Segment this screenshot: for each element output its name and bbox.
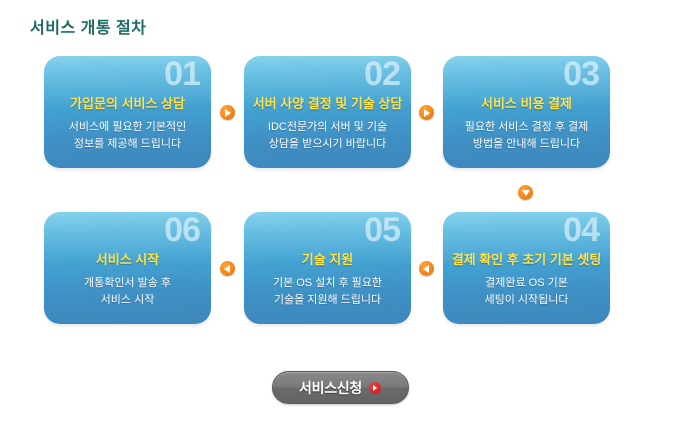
step-description-line: 세팅이 시작됩니다 <box>449 292 604 309</box>
step-description: 기본 OS 설치 후 필요한 기술을 지원해 드립니다 <box>250 275 405 309</box>
service-flow-page: 서비스 개통 절차 01 가입문의 서비스 상담 서비스에 필요한 기본적인 정… <box>0 0 680 445</box>
arrow-right-circle-icon <box>220 105 235 120</box>
arrow-left-circle-icon <box>220 261 235 276</box>
step-title: 서비스 시작 <box>44 249 211 268</box>
step-number: 05 <box>364 213 400 247</box>
step-title: 결제 확인 후 초기 기본 셋팅 <box>443 249 610 268</box>
step-description-line: 상담을 받으시기 바랍니다 <box>250 136 405 153</box>
step-number: 01 <box>164 57 200 91</box>
step-number: 04 <box>563 213 599 247</box>
arrow-right-circle-icon <box>369 382 381 394</box>
step-description-line: 방법을 안내해 드립니다 <box>449 136 604 153</box>
step-card-02[interactable]: 02 서버 사양 결정 및 기술 상담 IDC전문가의 서버 및 기술 상담을 … <box>244 56 411 168</box>
step-description: 서비스에 필요한 기본적인 정보를 제공해 드립니다 <box>50 119 205 153</box>
service-apply-button[interactable]: 서비스신청 <box>272 371 409 404</box>
flow-row-bottom: 06 서비스 시작 개통확인서 발송 후 서비스 시작 05 기술 지원 기본 … <box>0 212 680 324</box>
step-description: 결제완료 OS 기본 세팅이 시작됩니다 <box>449 275 604 309</box>
step-title: 서버 사양 결정 및 기술 상담 <box>244 93 411 112</box>
arrow-left-circle-icon <box>419 261 434 276</box>
step-card-06[interactable]: 06 서비스 시작 개통확인서 발송 후 서비스 시작 <box>44 212 211 324</box>
step-card-01[interactable]: 01 가입문의 서비스 상담 서비스에 필요한 기본적인 정보를 제공해 드립니… <box>44 56 211 168</box>
step-number: 02 <box>364 57 400 91</box>
service-flow-diagram: 01 가입문의 서비스 상담 서비스에 필요한 기본적인 정보를 제공해 드립니… <box>0 56 680 324</box>
step-title: 기술 지원 <box>244 249 411 268</box>
step-number: 06 <box>164 213 200 247</box>
step-card-03[interactable]: 03 서비스 비용 결제 필요한 서비스 결정 후 결제 방법을 안내해 드립니… <box>443 56 610 168</box>
step-description-line: 서비스에 필요한 기본적인 <box>50 119 205 136</box>
step-description-line: 기술을 지원해 드립니다 <box>250 292 405 309</box>
step-description-line: 결제완료 OS 기본 <box>449 275 604 292</box>
page-title: 서비스 개통 절차 <box>30 14 146 38</box>
arrow-right-circle-icon <box>419 105 434 120</box>
step-description: 개통확인서 발송 후 서비스 시작 <box>50 275 205 309</box>
step-number: 03 <box>563 57 599 91</box>
step-description-line: 기본 OS 설치 후 필요한 <box>250 275 405 292</box>
flow-row-top: 01 가입문의 서비스 상담 서비스에 필요한 기본적인 정보를 제공해 드립니… <box>0 56 680 168</box>
step-description: 필요한 서비스 결정 후 결제 방법을 안내해 드립니다 <box>449 119 604 153</box>
step-title: 가입문의 서비스 상담 <box>44 93 211 112</box>
step-description-line: 서비스 시작 <box>50 292 205 309</box>
apply-button-container: 서비스신청 <box>0 371 680 404</box>
apply-button-label: 서비스신청 <box>299 378 362 398</box>
step-description-line: 정보를 제공해 드립니다 <box>50 136 205 153</box>
step-description-line: 필요한 서비스 결정 후 결제 <box>449 119 604 136</box>
step-description-line: IDC전문가의 서버 및 기술 <box>250 119 405 136</box>
step-card-04[interactable]: 04 결제 확인 후 초기 기본 셋팅 결제완료 OS 기본 세팅이 시작됩니다 <box>443 212 610 324</box>
step-card-05[interactable]: 05 기술 지원 기본 OS 설치 후 필요한 기술을 지원해 드립니다 <box>244 212 411 324</box>
step-title: 서비스 비용 결제 <box>443 93 610 112</box>
step-description-line: 개통확인서 발송 후 <box>50 275 205 292</box>
arrow-down-circle-icon <box>518 185 533 200</box>
step-description: IDC전문가의 서버 및 기술 상담을 받으시기 바랍니다 <box>250 119 405 153</box>
